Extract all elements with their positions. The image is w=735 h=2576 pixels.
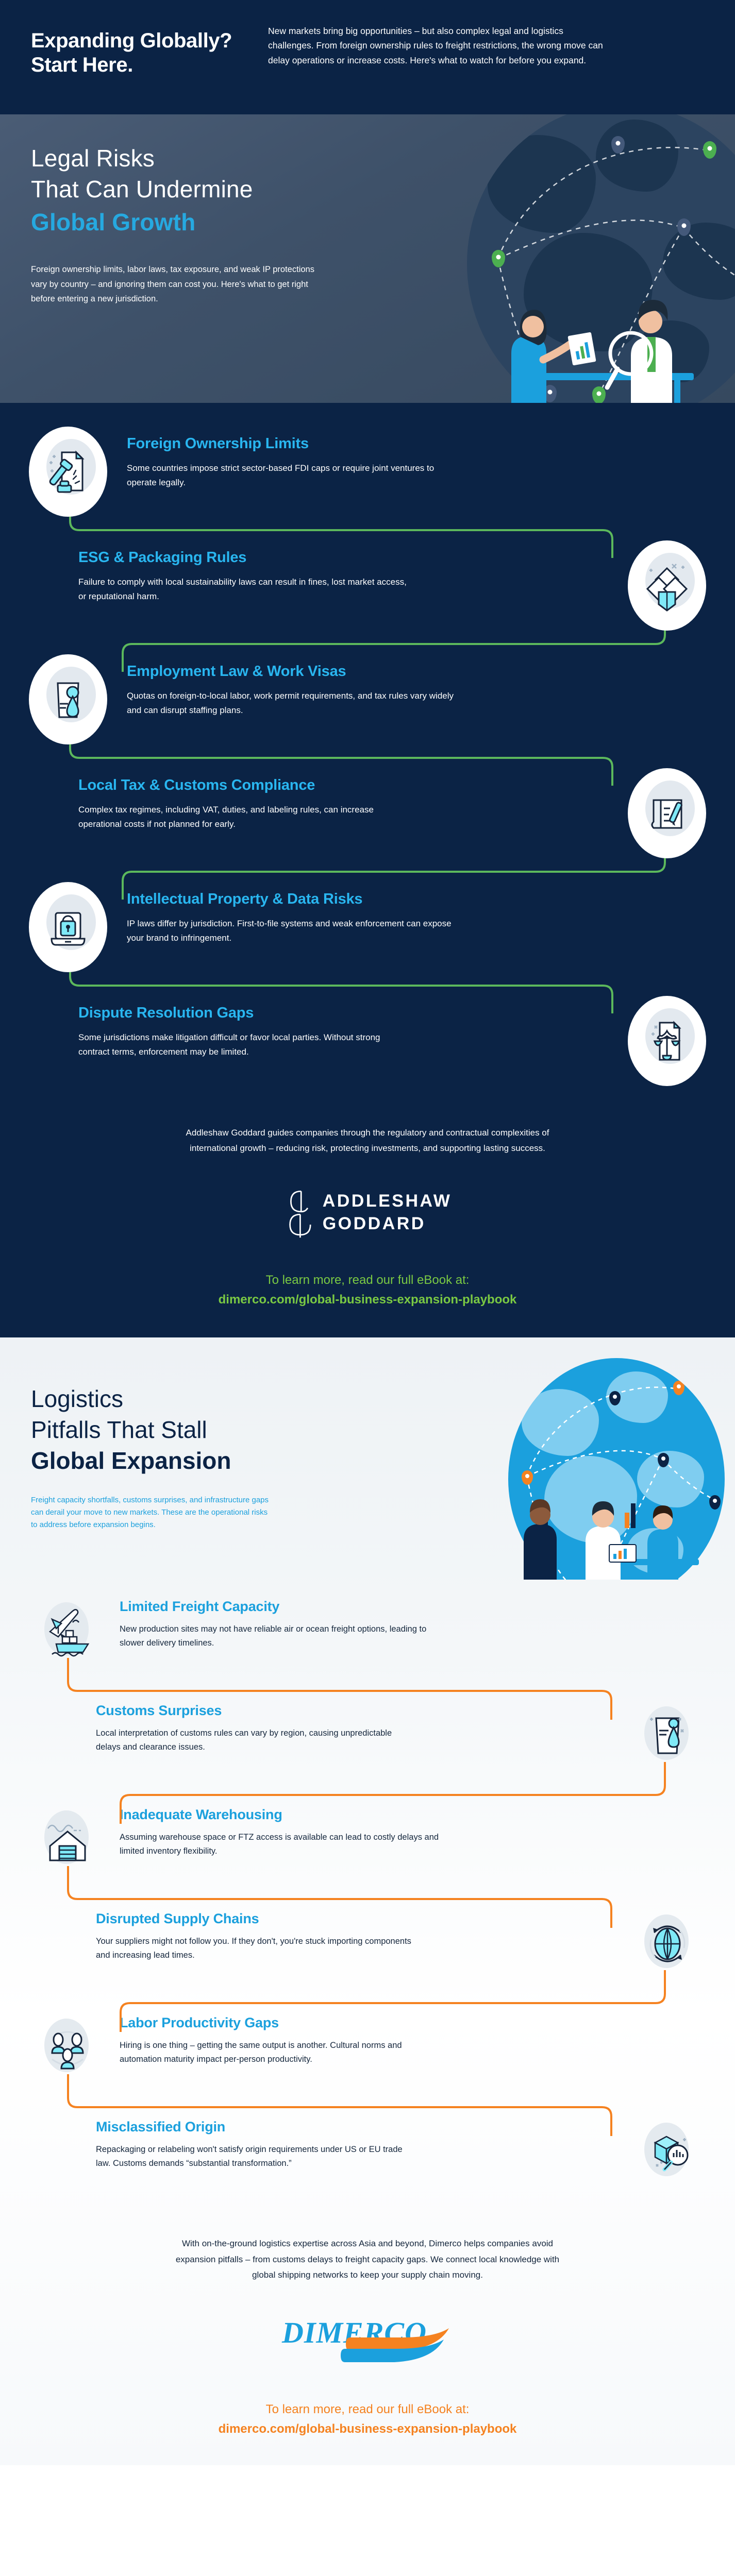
pitfall-description: New production sites may not have reliab… [120,1622,439,1651]
logistics-footer-copy: With on-the-ground logistics expertise a… [164,2236,571,2283]
pitfall-icon-badge [634,1697,701,1774]
pitfall-item-freight-capacity: Limited Freight Capacity New production … [0,1593,735,1670]
logistics-footer: With on-the-ground logistics expertise a… [0,2223,735,2465]
risk-icon-badge [29,882,107,972]
logo-line-2: GODDARD [323,1213,452,1235]
risk-copy: Foreign Ownership Limits Some countries … [107,427,706,490]
risk-copy: Intellectual Property & Data Risks IP la… [107,882,706,946]
legal-hero-title: Legal Risks That Can Undermine Global Gr… [31,143,392,238]
logistics-hero: Logistics Pitfalls That Stall Global Exp… [0,1337,735,1580]
pitfall-title: Misclassified Origin [96,2119,615,2135]
legal-hero-subtitle: Foreign ownership limits, labor laws, ta… [31,262,320,306]
risk-description: Complex tax regimes, including VAT, duti… [78,803,408,832]
pitfall-description: Your suppliers might not follow you. If … [96,1935,415,1963]
pitfall-description: Hiring is one thing – getting the same o… [120,2039,439,2067]
logistics-hero-title-line1: Logistics [31,1385,123,1412]
legal-hero: Legal Risks That Can Undermine Global Gr… [0,114,735,403]
legal-footer-copy: Addleshaw Goddard guides companies throu… [161,1125,574,1157]
intro-title-line2: Start Here. [31,53,237,77]
pitfall-title: Limited Freight Capacity [120,1598,613,1615]
pitfall-description: Local interpretation of customs rules ca… [96,1726,415,1755]
risk-title: Dispute Resolution Gaps [78,1004,608,1022]
risk-description: Some countries impose strict sector-base… [127,461,457,490]
logistics-pitfalls-section: Logistics Pitfalls That Stall Global Exp… [0,1337,735,2465]
globe-cycle-icon [643,1917,692,1971]
pitfall-description: Assuming warehouse space or FTZ access i… [120,1831,439,1859]
pitfall-copy: Misclassified Origin Repackaging or rela… [34,2113,634,2171]
risk-item-tax-customs: Local Tax & Customs Compliance Complex t… [0,768,735,858]
pitfall-item-labor-productivity: Labor Productivity Gaps Hiring is one th… [0,2009,735,2087]
risk-item-esg-packaging: ESG & Packaging Rules Failure to comply … [0,540,735,631]
dimerco-logo: DIMERCO [280,2311,455,2367]
logistics-cta-url[interactable]: dimerco.com/global-business-expansion-pl… [0,2419,735,2439]
logistics-hero-title-bold: Global Expansion [31,1446,361,1477]
people-group-icon [43,2021,92,2075]
risk-item-employment-law: Employment Law & Work Visas Quotas on fo… [0,654,735,744]
risk-item-dispute-resolution: Dispute Resolution Gaps Some jurisdictio… [0,996,735,1086]
pitfall-icon-badge [34,1801,101,1878]
risk-title: ESG & Packaging Rules [78,549,608,567]
pitfall-title: Customs Surprises [96,1702,615,1719]
ag-monogram-icon [283,1188,311,1239]
risk-title: Foreign Ownership Limits [127,435,644,453]
plane-ship-icon [43,1605,92,1658]
legal-cta-url[interactable]: dimerco.com/global-business-expansion-pl… [0,1290,735,1310]
risk-description: Some jurisdictions make litigation diffi… [78,1030,408,1060]
document-pen-icon [643,788,691,839]
logistics-cta[interactable]: To learn more, read our full eBook at: d… [0,2400,735,2439]
risk-title: Local Tax & Customs Compliance [78,776,608,794]
logistics-pitfall-list: Limited Freight Capacity New production … [0,1580,735,2223]
pitfall-copy: Customs Surprises Local interpretation o… [34,1697,634,1754]
legal-risks-section: Expanding Globally? Start Here. New mark… [0,0,735,1337]
pitfall-copy: Inadequate Warehousing Assuming warehous… [101,1801,701,1858]
addleshaw-goddard-logo: ADDLESHAW GODDARD [0,1188,735,1239]
risk-icon-badge [628,768,706,858]
scales-document-icon [643,1015,691,1067]
risk-copy: Employment Law & Work Visas Quotas on fo… [107,654,706,718]
legal-hero-title-line1: Legal Risks [31,145,155,172]
pitfall-item-misclassified-origin: Misclassified Origin Repackaging or rela… [0,2113,735,2191]
pitfall-copy: Disrupted Supply Chains Your suppliers m… [34,1905,634,1962]
legal-footer: Addleshaw Goddard guides companies throu… [0,1120,735,1337]
logistics-cta-lead: To learn more, read our full eBook at: [266,2402,470,2416]
people-illustration [493,243,714,403]
pitfall-icon-badge [634,2113,701,2191]
laptop-lock-icon [44,902,92,953]
pitfall-item-warehousing: Inadequate Warehousing Assuming warehous… [0,1801,735,1878]
customs-document-icon [643,1709,692,1762]
risk-icon-badge [628,540,706,631]
pitfall-copy: Labor Productivity Gaps Hiring is one th… [101,2009,701,2066]
legal-risk-list: Foreign Ownership Limits Some countries … [0,403,735,1120]
pitfall-icon-badge [634,1905,701,1982]
legal-hero-title-line2: That Can Undermine [31,176,253,202]
addleshaw-goddard-wordmark: ADDLESHAW GODDARD [323,1190,452,1235]
risk-title: Employment Law & Work Visas [127,663,644,681]
pitfall-item-supply-chains: Disrupted Supply Chains Your suppliers m… [0,1905,735,1982]
package-box-icon [643,560,691,612]
infographic-page: Expanding Globally? Start Here. New mark… [0,0,735,2465]
pitfall-copy: Limited Freight Capacity New production … [101,1593,701,1650]
risk-copy: Local Tax & Customs Compliance Complex t… [29,768,628,832]
risk-title: Intellectual Property & Data Risks [127,890,644,908]
pitfall-icon-badge [34,2009,101,2087]
risk-copy: Dispute Resolution Gaps Some jurisdictio… [29,996,628,1060]
intro-title: Expanding Globally? Start Here. [31,21,237,77]
pitfall-title: Inadequate Warehousing [120,1806,613,1823]
gavel-document-icon [44,446,92,498]
risk-description: Failure to comply with local sustainabil… [78,575,408,604]
intro-strip: Expanding Globally? Start Here. New mark… [0,0,735,114]
box-magnifier-icon [643,2125,692,2179]
pitfall-icon-badge [34,1593,101,1670]
warehouse-icon [43,1813,92,1867]
logistics-hero-subtitle: Freight capacity shortfalls, customs sur… [31,1494,273,1531]
pitfall-item-customs-surprises: Customs Surprises Local interpretation o… [0,1697,735,1774]
pitfall-title: Disrupted Supply Chains [96,1910,615,1927]
risk-copy: ESG & Packaging Rules Failure to comply … [29,540,628,604]
risk-description: Quotas on foreign-to-local labor, work p… [127,689,457,718]
legal-hero-title-accent: Global Growth [31,207,392,238]
pitfall-title: Labor Productivity Gaps [120,2014,613,2031]
legal-cta[interactable]: To learn more, read our full eBook at: d… [0,1270,735,1310]
intro-title-line1: Expanding Globally? [31,29,237,53]
risk-item-foreign-ownership: Foreign Ownership Limits Some countries … [0,427,735,517]
risk-icon-badge [29,427,107,517]
pitfall-description: Repackaging or relabeling won't satisfy … [96,2143,415,2171]
risk-icon-badge [29,654,107,744]
logo-line-1: ADDLESHAW [323,1190,452,1213]
intro-body: New markets bring big opportunities – bu… [268,21,608,67]
logistics-hero-title-line2: Pitfalls That Stall [31,1416,207,1443]
people-illustration-light [508,1448,714,1580]
contract-pin-icon [44,674,92,725]
logistics-hero-title: Logistics Pitfalls That Stall Global Exp… [31,1384,361,1476]
risk-description: IP laws differ by jurisdiction. First-to… [127,917,457,946]
risk-item-ip-data: Intellectual Property & Data Risks IP la… [0,882,735,972]
risk-icon-badge [628,996,706,1086]
legal-cta-lead: To learn more, read our full eBook at: [266,1273,470,1287]
